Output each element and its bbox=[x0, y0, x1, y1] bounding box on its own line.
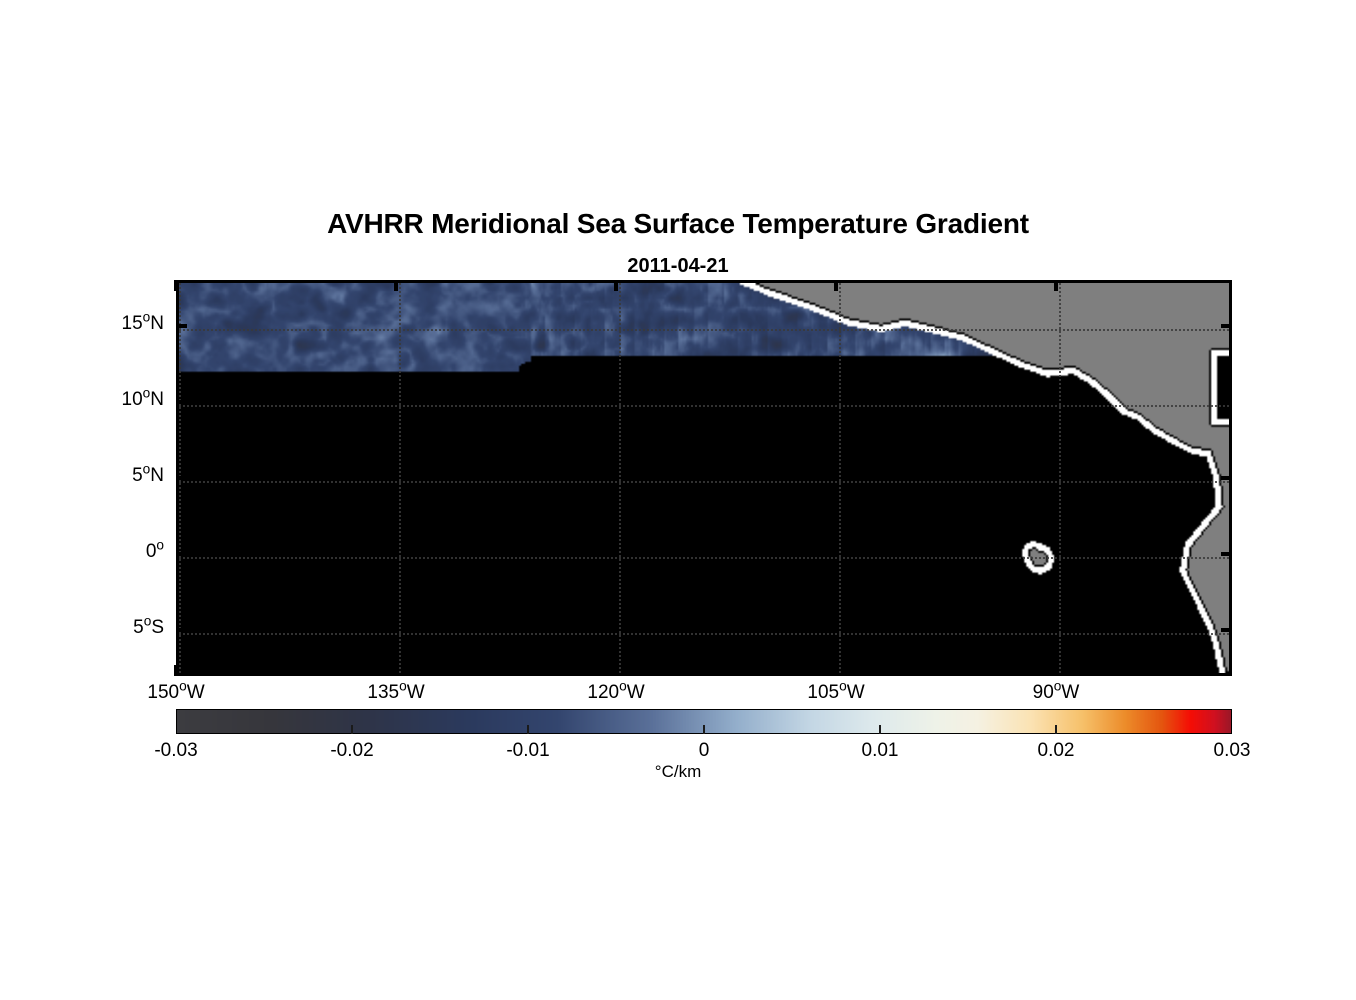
x-tick-label-150W: 150oW bbox=[147, 682, 204, 704]
colorbar-units-label: °C/km bbox=[0, 762, 1356, 782]
ytick-left bbox=[176, 400, 187, 404]
colorbar-tick bbox=[351, 725, 353, 734]
ytick-right bbox=[1221, 628, 1232, 632]
xtick-top bbox=[174, 280, 178, 291]
gridline-lat-0 bbox=[179, 557, 1229, 559]
gridline-lon-120W bbox=[619, 283, 621, 673]
x-tick-label-120W: 120oW bbox=[587, 682, 644, 704]
xtick-bottom bbox=[834, 665, 838, 676]
colorbar-label-0.01: 0.01 bbox=[862, 740, 899, 762]
page-title: AVHRR Meridional Sea Surface Temperature… bbox=[0, 208, 1356, 240]
xtick-top bbox=[394, 280, 398, 291]
y-tick-label-15N: 15oN bbox=[122, 313, 164, 335]
gridline-lat-5N bbox=[179, 481, 1229, 483]
ytick-right bbox=[1221, 552, 1232, 556]
xtick-bottom bbox=[174, 665, 178, 676]
x-tick-label-135W: 135oW bbox=[367, 682, 424, 704]
colorbar-label--0.03: -0.03 bbox=[154, 740, 197, 762]
colorbar-tick bbox=[527, 725, 529, 734]
ytick-right bbox=[1221, 324, 1232, 328]
chart-subtitle-date: 2011-04-21 bbox=[0, 255, 1356, 278]
colorbar-label-0.03: 0.03 bbox=[1214, 740, 1251, 762]
colorbar-label-0: 0 bbox=[699, 740, 710, 762]
sst-gradient-heatmap bbox=[179, 283, 1229, 673]
xtick-top bbox=[1054, 280, 1058, 291]
gridline-lon-90W bbox=[1059, 283, 1061, 673]
xtick-top bbox=[834, 280, 838, 291]
ytick-left bbox=[176, 628, 187, 632]
x-tick-label-90W: 90oW bbox=[1033, 682, 1080, 704]
y-tick-label-0eq: 0o bbox=[146, 541, 164, 563]
colorbar-label--0.01: -0.01 bbox=[506, 740, 549, 762]
xtick-top bbox=[614, 280, 618, 291]
y-tick-label-10N: 10oN bbox=[122, 389, 164, 411]
colorbar-label--0.02: -0.02 bbox=[330, 740, 373, 762]
y-tick-label-5S: 5oS bbox=[133, 617, 164, 639]
gridline-lat-10N bbox=[179, 405, 1229, 407]
ytick-left bbox=[176, 552, 187, 556]
map-axes bbox=[176, 280, 1232, 676]
y-tick-label-5N: 5oN bbox=[132, 465, 164, 487]
ytick-right bbox=[1221, 400, 1232, 404]
colorbar-tick bbox=[703, 725, 705, 734]
ytick-right bbox=[1221, 476, 1232, 480]
colorbar-tick bbox=[1055, 725, 1057, 734]
ytick-left bbox=[176, 324, 187, 328]
xtick-bottom bbox=[394, 665, 398, 676]
ytick-left bbox=[176, 476, 187, 480]
figure-root: AVHRR Meridional Sea Surface Temperature… bbox=[0, 0, 1356, 1000]
gridline-lat-15N bbox=[179, 329, 1229, 331]
gridline-lat-5S bbox=[179, 633, 1229, 635]
xtick-bottom bbox=[1054, 665, 1058, 676]
colorbar-label-0.02: 0.02 bbox=[1038, 740, 1075, 762]
gridline-lon-105W bbox=[839, 283, 841, 673]
gridline-lon-135W bbox=[399, 283, 401, 673]
xtick-bottom bbox=[614, 665, 618, 676]
colorbar-tick bbox=[879, 725, 881, 734]
x-tick-label-105W: 105oW bbox=[807, 682, 864, 704]
